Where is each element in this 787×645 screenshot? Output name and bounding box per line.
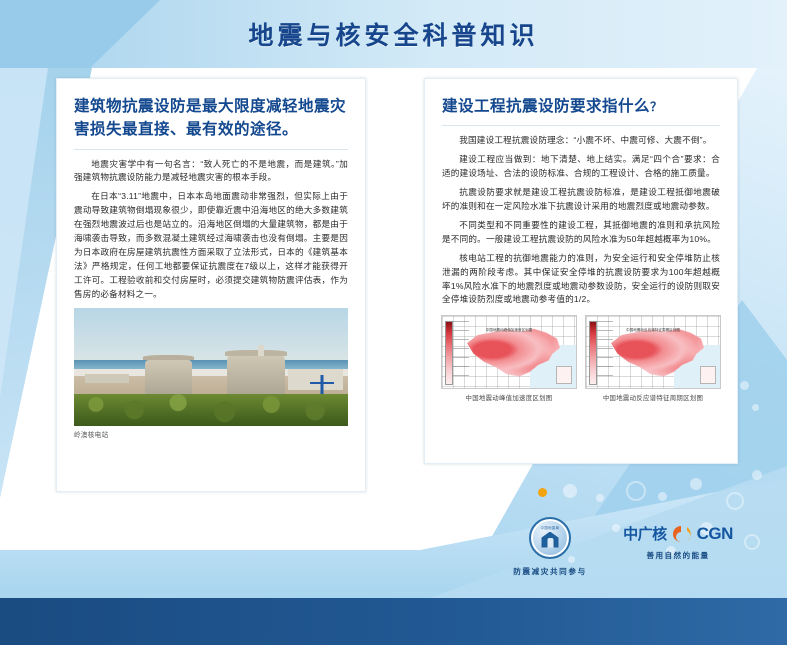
footer-logos: 中国地震局 防震减灾共同参与 中广核 CGN 善用自然的能量: [0, 517, 787, 587]
photo-caption: 岭澳核电站: [74, 429, 348, 439]
map-inline-title: 中国地震动峰值加速度区划图: [486, 328, 533, 333]
decor-dot: [658, 492, 667, 501]
right-panel-title: 建设工程抗震设防要求指什么？: [442, 95, 720, 118]
cea-seal-house-shape: [542, 532, 559, 548]
decor-dot: [740, 381, 749, 390]
photo-tree-texture: [74, 390, 348, 425]
photo-sky: [74, 308, 348, 365]
china-peak-acceleration-map: 中国地震动峰值加速度区划图: [441, 315, 577, 389]
nuclear-plant-photo: [74, 308, 348, 426]
map-inset-box: [700, 366, 716, 384]
decor-dot: [752, 404, 759, 411]
photo-stack: [258, 345, 265, 356]
cea-logo-label: 防震减灾共同参与: [513, 566, 587, 577]
photo-reactor-dome-right: [227, 355, 285, 395]
accent-dot-orange: [538, 488, 547, 497]
right-paragraph: 不同类型和不同重要性的建设工程，其抵御地震的准则和承抗风险是不同的。一般建设工程…: [442, 219, 720, 247]
decor-dot: [752, 470, 762, 480]
photo-block: 岭澳核电站: [74, 308, 348, 439]
right-paragraph: 抗震设防要求就是建设工程抗震设防标准，是建设工程抵御地震破坏的准则和在一定风险水…: [442, 186, 720, 214]
maps-row: 中国地震动峰值加速度区划图 中国地震动峰值加速度区划图 中国地震动反应谱特征周期…: [442, 315, 720, 402]
map-caption: 中国地震动反应谱特征周期区划图: [603, 393, 703, 402]
right-paragraph: 我国建设工程抗震设防理念：“小震不坏、中震可修、大震不倒”。: [442, 134, 720, 148]
cgn-slogan: 善用自然的能量: [647, 550, 710, 561]
right-content-panel: 建设工程抗震设防要求指什么？ 我国建设工程抗震设防理念：“小震不坏、中震可修、大…: [424, 78, 738, 464]
decor-ring: [726, 492, 744, 510]
left-panel-title: 建筑物抗震设防是最大限度减轻地震灾害损失最直接、最有效的途径。: [74, 95, 348, 142]
title-divider: [442, 125, 720, 126]
poster-canvas: 地震与核安全科普知识 建筑物抗震设防是最大限度减轻地震灾害损失最直接、最有效的途…: [0, 0, 787, 645]
cgn-chinese-name: 中广核: [623, 523, 667, 544]
cea-seal-icon: 中国地震局: [529, 517, 571, 559]
title-divider: [74, 149, 348, 150]
map-inset-box: [556, 366, 572, 384]
cgn-logo-mark: 中广核 CGN: [623, 523, 733, 544]
cea-seal-arc-text: 中国地震局: [541, 525, 560, 530]
map-legend-colorbar: [589, 321, 597, 385]
left-paragraph: 地震灾害学中有一句名言：“致人死亡的不是地震，而是建筑。”加强建筑物抗震设防能力…: [74, 158, 348, 186]
footer-bar: [0, 598, 787, 645]
left-content-panel: 建筑物抗震设防是最大限度减轻地震灾害损失最直接、最有效的途径。 地震灾害学中有一…: [56, 78, 366, 492]
map-card: 中国地震动峰值加速度区划图 中国地震动峰值加速度区划图: [442, 315, 576, 402]
map-legend-ticks: [453, 321, 469, 383]
map-card: 中国地震动反应谱特征周期区划图 中国地震动反应谱特征周期区划图: [586, 315, 720, 402]
cgn-swirl-icon: [669, 524, 695, 544]
decor-dot: [596, 494, 604, 502]
right-paragraph: 核电站工程的抗御地震能力的准则，为安全运行和安全停堆防止核泄漏的两阶段考虑。其中…: [442, 252, 720, 308]
right-panel-title-question-mark: ？: [650, 100, 663, 114]
left-paragraph: 在日本“3.11”地震中，日本本岛地面震动非常强烈，但实际上由于震动导致建筑物倒…: [74, 190, 348, 301]
map-caption: 中国地震动峰值加速度区划图: [466, 393, 553, 402]
cgn-logo-group: 中广核 CGN 善用自然的能量: [608, 523, 748, 561]
map-inline-title: 中国地震动反应谱特征周期区划图: [626, 328, 680, 333]
decor-ring: [626, 481, 646, 501]
map-legend-colorbar: [445, 321, 453, 385]
photo-building: [85, 374, 129, 383]
cgn-english-name: CGN: [697, 524, 733, 544]
page-title: 地震与核安全科普知识: [0, 0, 787, 68]
decor-dot: [690, 478, 702, 490]
footer-bar-gradient: [0, 598, 787, 645]
china-response-spectrum-map: 中国地震动反应谱特征周期区划图: [585, 315, 721, 389]
cea-logo-group: 中国地震局 防震减灾共同参与: [505, 517, 595, 577]
right-paragraph: 建设工程应当做到：地下清楚、地上结实。满足“四个合”要求：合适的建设场址、合法的…: [442, 153, 720, 181]
map-legend-ticks: [597, 321, 613, 383]
decor-dot: [563, 484, 577, 498]
right-panel-title-text: 建设工程抗震设防要求指什么: [442, 98, 650, 115]
